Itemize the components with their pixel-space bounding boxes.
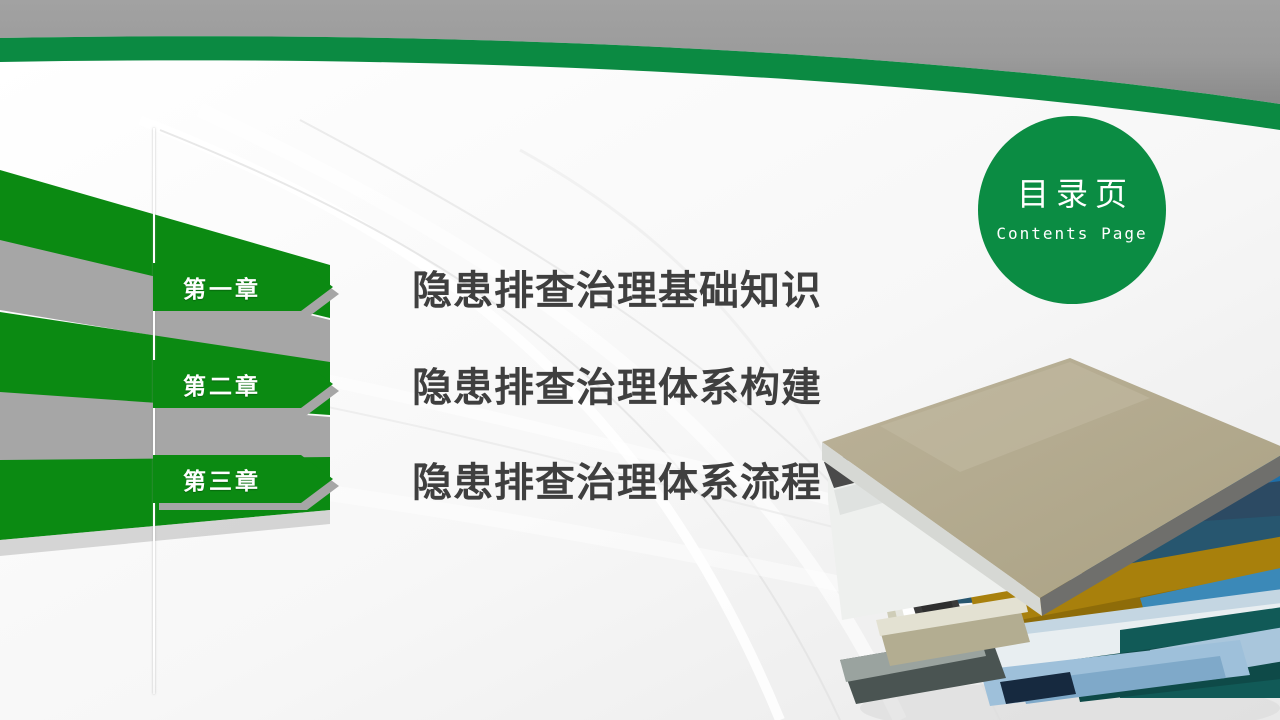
chapter-label-3: 第三章 — [183, 462, 261, 496]
badge-title-cn: 目录页 — [1010, 177, 1134, 212]
slide-canvas: 第一章 隐患排查治理基础知识 第二章 隐患排查治理体系构建 第三章 隐患排查治理… — [0, 0, 1280, 720]
chevron-chapter-3[interactable]: 第三章 — [153, 455, 333, 503]
contents-title-3[interactable]: 隐患排查治理体系流程 — [412, 450, 822, 508]
contents-page-badge: 目录页 Contents Page — [978, 116, 1166, 304]
contents-title-1[interactable]: 隐患排查治理基础知识 — [412, 258, 822, 316]
chapter-label-2: 第二章 — [183, 367, 261, 401]
contents-list: 第一章 隐患排查治理基础知识 第二章 隐患排查治理体系构建 第三章 隐患排查治理… — [0, 0, 1280, 720]
contents-title-2[interactable]: 隐患排查治理体系构建 — [412, 355, 822, 413]
badge-title-en: Contents Page — [996, 224, 1147, 243]
chevron-chapter-2[interactable]: 第二章 — [153, 360, 333, 408]
chevron-chapter-1[interactable]: 第一章 — [153, 263, 333, 311]
chapter-label-1: 第一章 — [183, 270, 261, 304]
